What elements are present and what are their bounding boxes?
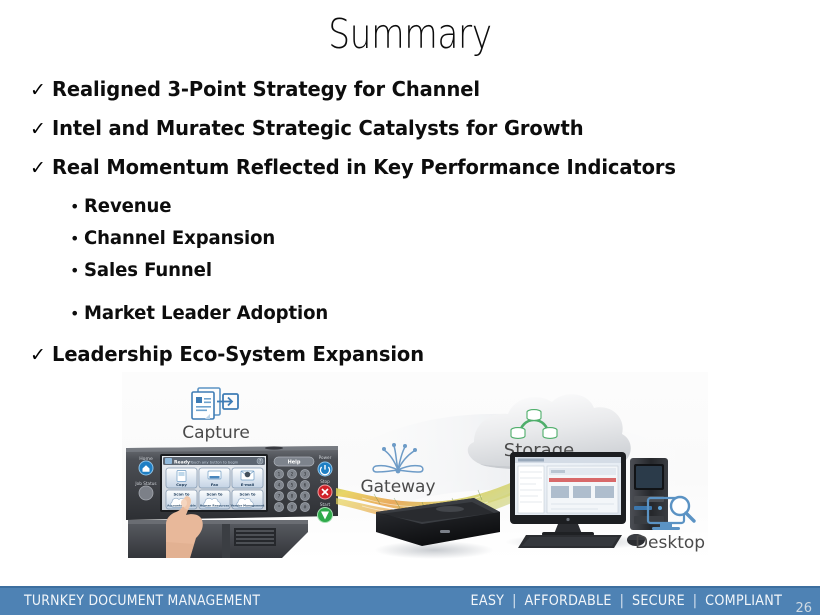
bullet-dot-icon: • [70,306,84,322]
footer-tagline: TURNKEY DOCUMENT MANAGEMENT [24,593,260,609]
screen-tile[interactable]: Scan to Human Resources [199,490,230,509]
mfp-device: Home Job Status Ready Touch any button t… [126,446,338,558]
check-icon: ✓ [30,346,52,365]
footer-bar: TURNKEY DOCUMENT MANAGEMENT EASY | AFFOR… [0,586,820,615]
svg-text:4: 4 [278,483,281,488]
device-vent [234,528,276,546]
help-button[interactable]: Help [274,457,314,466]
slide-canvas: Summary ✓ Realigned 3-Point Strategy for… [0,0,820,615]
list-item-label: Channel Expansion [84,223,275,254]
gateway-label: Gateway [360,477,435,497]
bullet-list: ✓ Realigned 3-Point Strategy for Channel… [0,74,820,378]
list-item-label: Market Leader Adoption [84,298,328,329]
svg-text:7: 7 [278,494,281,499]
slide-number: 26 [795,601,812,616]
svg-text:1: 1 [278,472,281,477]
capture-label: Capture [182,423,250,443]
svg-text:6: 6 [304,483,307,488]
list-item-label: Leadership Eco-System Expansion [52,339,424,370]
list-item: ✓ Intel and Muratec Strategic Catalysts … [0,113,820,144]
help-button-label: Help [288,460,301,466]
bullet-dot-icon: • [70,199,84,215]
bullet-dot-icon: • [70,263,84,279]
power-button-label: Power [319,455,332,460]
list-item: ✓ Realigned 3-Point Strategy for Channel [0,74,820,105]
workflow-diagram-image: Capture [122,372,708,560]
job-status-button-label: Job Status [134,481,156,486]
screen-tile-label: Scan to [207,491,223,496]
svg-text:0: 0 [291,505,294,510]
footer-separator: | [689,593,701,609]
list-item-label: Revenue [84,191,171,222]
screen-tile-label: Copy [176,482,187,487]
screen-tile-label: Fax [211,482,219,487]
list-item: • Market Leader Adoption [0,298,820,329]
screen-status-text: Ready [174,459,190,465]
screen-tile-sublabel: Vendor Management [231,504,265,508]
screen-tile-label: Scan to [240,491,256,496]
capture-icon [192,388,238,419]
page-title: Summary [66,8,755,60]
list-item: • Sales Funnel [0,255,820,286]
start-button-label: Start [320,502,331,507]
panel-right-buttons[interactable]: Power Stop Start [318,455,333,523]
screen-tile[interactable]: Scan to Accounts Payable [166,490,197,509]
footer-benefit-affordable: AFFORDABLE [524,593,611,609]
check-icon: ✓ [30,81,52,100]
svg-text:#: # [303,505,307,510]
svg-text:2: 2 [291,472,294,477]
svg-text:*: * [278,505,280,510]
list-item: • Revenue [0,191,820,222]
screen-tile-label: E-mail [241,482,255,487]
list-item-label: Intel and Muratec Strategic Catalysts fo… [52,113,584,144]
svg-text:?: ? [259,459,261,464]
footer-benefit-easy: EASY [470,593,504,609]
screen-status-hint: Touch any button to begin [189,460,239,464]
list-item-label: Realigned 3-Point Strategy for Channel [52,74,480,105]
svg-text:9: 9 [304,494,307,499]
desktop-label: Desktop [635,533,705,553]
bullet-dot-icon: • [70,231,84,247]
list-item: ✓ Leadership Eco-System Expansion [0,339,820,370]
footer-benefits: EASY | AFFORDABLE | SECURE | COMPLIANT [470,593,782,609]
screen-tile-label: Scan to [174,491,190,496]
check-icon: ✓ [30,120,52,139]
screen-tile[interactable]: E-mail [232,468,263,488]
footer-separator: | [616,593,628,609]
footer-benefit-compliant: COMPLIANT [705,593,782,609]
svg-text:5: 5 [291,483,294,488]
screen-tile[interactable]: Scan to Vendor Management [231,490,265,509]
footer-benefit-secure: SECURE [632,593,685,609]
footer-separator: | [508,593,520,609]
job-status-button[interactable] [139,486,153,500]
check-icon: ✓ [30,159,52,178]
list-item-label: Real Momentum Reflected in Key Performan… [52,152,676,183]
stop-button-label: Stop [320,479,330,484]
svg-text:3: 3 [304,472,307,477]
list-item-label: Sales Funnel [84,255,212,286]
screen-tile-sublabel: Human Resources [200,504,230,508]
screen-tile[interactable]: Fax [199,468,230,488]
list-item: • Channel Expansion [0,223,820,254]
screen-tile[interactable]: Copy [166,468,197,488]
list-item: ✓ Real Momentum Reflected in Key Perform… [0,152,820,183]
touchscreen[interactable]: Ready Touch any button to begin ? Copy [160,454,268,512]
svg-text:8: 8 [291,494,294,499]
